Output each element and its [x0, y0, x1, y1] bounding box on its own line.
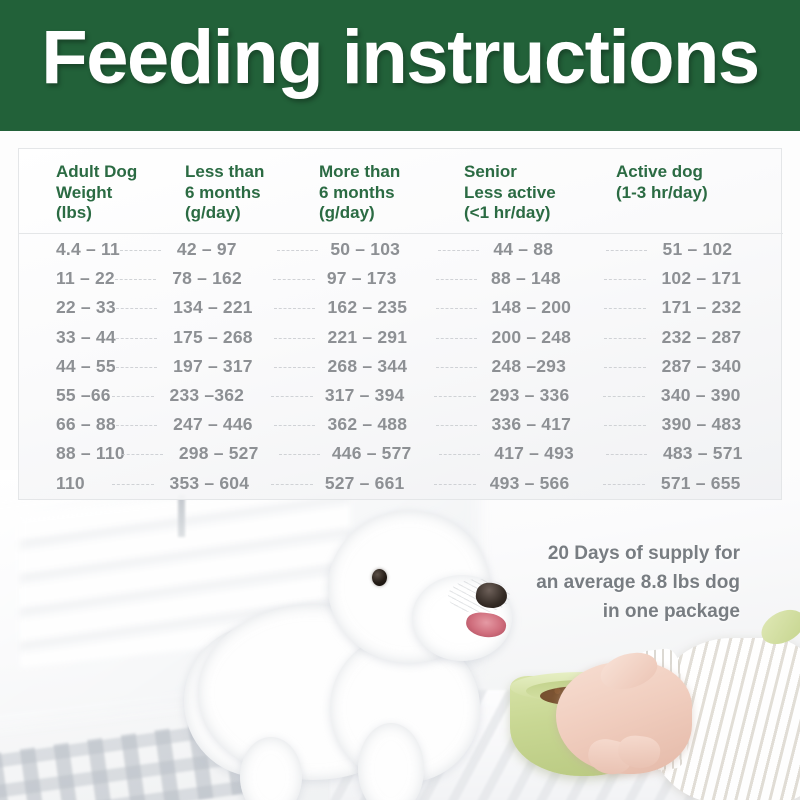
column-separator-dashes	[120, 250, 161, 251]
cell-adult-dog-weight: 88 – 110	[19, 443, 122, 464]
cell-adult-dog-weight: 22 – 33	[19, 297, 116, 318]
table-body: 4.4 – 1142 – 9750 – 10344 – 8851 – 10211…	[19, 235, 783, 498]
cell-senior-less-active: 293 – 336	[476, 385, 604, 406]
feeding-instructions-page: Feeding instructions Adult Dog Weight (l…	[0, 0, 800, 800]
column-separator-dashes	[604, 308, 645, 309]
column-separator-dashes	[436, 367, 477, 368]
table-row: 33 – 44175 – 268221 – 291200 – 248232 – …	[19, 323, 783, 352]
cell-more-than-6-months: 362 – 488	[315, 414, 436, 435]
column-separator-dashes	[274, 308, 315, 309]
table-row: 110353 – 604527 – 661493 – 566571 – 655	[19, 469, 783, 498]
cell-less-than-6-months: 78 – 162	[156, 268, 273, 289]
column-separator-dashes	[436, 308, 477, 309]
cell-active-dog: 51 – 102	[647, 239, 784, 260]
column-separator-dashes	[603, 484, 645, 485]
column-separator-dashes	[112, 396, 154, 397]
column-separator-dashes	[274, 425, 315, 426]
column-separator-dashes	[439, 454, 480, 455]
table-row: 4.4 – 1142 – 9750 – 10344 – 8851 – 102	[19, 235, 783, 264]
column-separator-dashes	[271, 396, 313, 397]
cell-more-than-6-months: 221 – 291	[315, 327, 436, 348]
cell-adult-dog-weight: 33 – 44	[19, 327, 116, 348]
column-separator-dashes	[279, 454, 320, 455]
cell-more-than-6-months: 50 – 103	[318, 239, 438, 260]
cell-less-than-6-months: 247 – 446	[157, 414, 274, 435]
cell-senior-less-active: 44 – 88	[479, 239, 605, 260]
column-separator-dashes	[273, 279, 314, 280]
column-header-senior-less-active: Senior Less active (<1 hr/day)	[452, 149, 602, 233]
column-separator-dashes	[271, 484, 313, 485]
cell-adult-dog-weight: 4.4 – 11	[19, 239, 120, 260]
cell-active-dog: 340 – 390	[645, 385, 783, 406]
column-separator-dashes	[604, 338, 645, 339]
cell-active-dog: 390 – 483	[646, 414, 783, 435]
cell-active-dog: 287 – 340	[646, 356, 783, 377]
cell-active-dog: 483 – 571	[647, 443, 783, 464]
cell-less-than-6-months: 233 –362	[154, 385, 272, 406]
cell-more-than-6-months: 162 – 235	[315, 297, 436, 318]
column-separator-dashes	[604, 425, 645, 426]
column-separator-dashes	[606, 454, 647, 455]
supply-note: 20 Days of supply for an average 8.8 lbs…	[440, 540, 740, 627]
column-separator-dashes	[604, 279, 645, 280]
cell-less-than-6-months: 353 – 604	[154, 473, 272, 494]
column-separator-dashes	[436, 425, 477, 426]
cell-adult-dog-weight: 44 – 55	[19, 356, 116, 377]
column-separator-dashes	[438, 250, 479, 251]
cell-less-than-6-months: 298 – 527	[163, 443, 279, 464]
cell-more-than-6-months: 317 – 394	[313, 385, 434, 406]
table-row: 66 – 88247 – 446362 – 488336 – 417390 – …	[19, 410, 783, 439]
cell-less-than-6-months: 175 – 268	[157, 327, 274, 348]
header-band: Feeding instructions	[0, 0, 800, 131]
column-separator-dashes	[112, 484, 154, 485]
feeding-table: Adult Dog Weight (lbs) Less than 6 month…	[18, 148, 782, 500]
cell-adult-dog-weight: 66 – 88	[19, 414, 116, 435]
column-header-active-dog: Active dog (1-3 hr/day)	[602, 149, 783, 233]
cell-adult-dog-weight: 110	[19, 473, 112, 494]
cell-senior-less-active: 493 – 566	[476, 473, 604, 494]
cell-senior-less-active: 336 – 417	[477, 414, 604, 435]
column-separator-dashes	[436, 338, 477, 339]
column-separator-dashes	[277, 250, 318, 251]
cell-active-dog: 571 – 655	[645, 473, 783, 494]
cell-less-than-6-months: 197 – 317	[157, 356, 274, 377]
cell-senior-less-active: 417 – 493	[480, 443, 606, 464]
cell-less-than-6-months: 134 – 221	[157, 297, 274, 318]
column-separator-dashes	[434, 396, 476, 397]
table-header-row: Adult Dog Weight (lbs) Less than 6 month…	[19, 149, 783, 234]
column-header-less-than-6-months: Less than 6 months (g/day)	[171, 149, 309, 233]
cell-adult-dog-weight: 55 –66	[19, 385, 112, 406]
cell-more-than-6-months: 268 – 344	[315, 356, 436, 377]
column-separator-dashes	[436, 279, 477, 280]
page-title: Feeding instructions	[0, 20, 800, 96]
hand-with-bowl-photo	[500, 620, 800, 800]
table-row: 55 –66233 –362317 – 394293 – 336340 – 39…	[19, 381, 783, 410]
column-separator-dashes	[115, 279, 156, 280]
cell-more-than-6-months: 97 – 173	[315, 268, 436, 289]
cell-adult-dog-weight: 11 – 22	[19, 268, 115, 289]
dog-eye	[372, 569, 387, 586]
cell-less-than-6-months: 42 – 97	[161, 239, 277, 260]
column-header-adult-dog-weight: Adult Dog Weight (lbs)	[19, 149, 171, 233]
cell-senior-less-active: 88 – 148	[477, 268, 604, 289]
column-separator-dashes	[274, 338, 315, 339]
column-separator-dashes	[604, 367, 645, 368]
column-separator-dashes	[116, 308, 157, 309]
table-row: 22 – 33134 – 221162 – 235148 – 200171 – …	[19, 293, 783, 322]
cell-active-dog: 102 – 171	[646, 268, 784, 289]
cell-senior-less-active: 148 – 200	[477, 297, 604, 318]
table-row: 11 – 2278 – 16297 – 17388 – 148102 – 171	[19, 264, 783, 293]
cell-senior-less-active: 248 –293	[477, 356, 604, 377]
column-separator-dashes	[122, 454, 163, 455]
table-row: 44 – 55197 – 317268 – 344248 –293287 – 3…	[19, 352, 783, 381]
cell-more-than-6-months: 527 – 661	[313, 473, 434, 494]
column-separator-dashes	[274, 367, 315, 368]
column-separator-dashes	[603, 396, 645, 397]
column-separator-dashes	[606, 250, 647, 251]
column-separator-dashes	[116, 338, 157, 339]
cell-active-dog: 171 – 232	[646, 297, 783, 318]
column-separator-dashes	[434, 484, 476, 485]
column-header-more-than-6-months: More than 6 months (g/day)	[309, 149, 452, 233]
column-separator-dashes	[116, 367, 157, 368]
column-separator-dashes	[116, 425, 157, 426]
cell-active-dog: 232 – 287	[646, 327, 783, 348]
table-row: 88 – 110298 – 527446 – 577417 – 493483 –…	[19, 439, 783, 468]
cell-senior-less-active: 200 – 248	[477, 327, 604, 348]
cell-more-than-6-months: 446 – 577	[320, 443, 440, 464]
